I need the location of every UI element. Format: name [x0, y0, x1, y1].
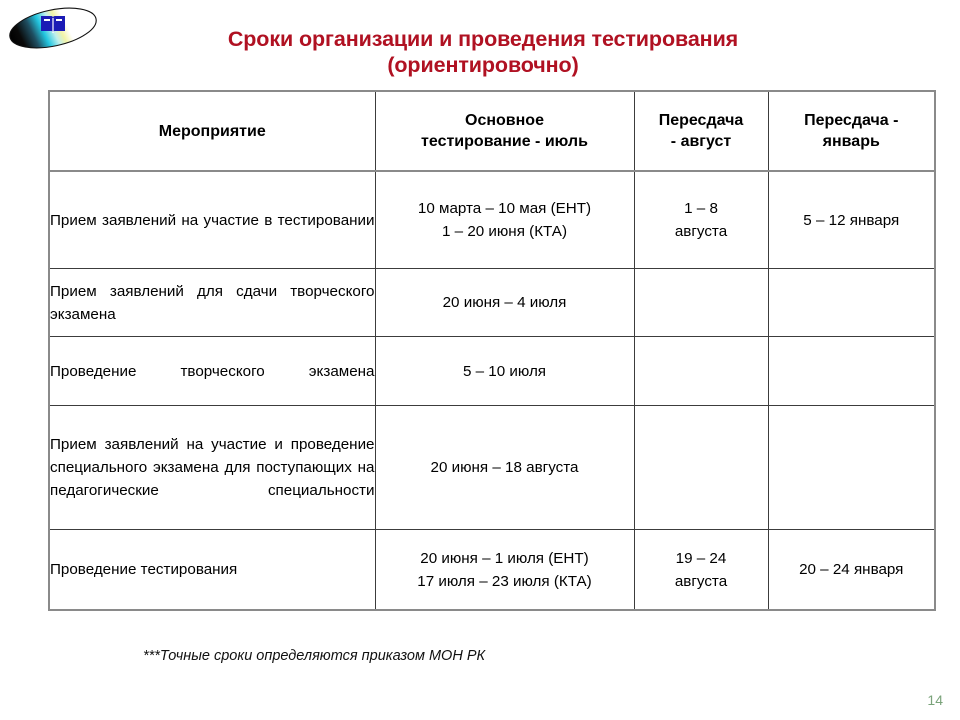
slide-page-number: 14	[927, 692, 943, 708]
column-header-retake-august-line-2: - август	[671, 133, 731, 150]
cell-retake-january: 5 – 12 января	[768, 171, 935, 269]
cell-retake-august-line-2: августа	[675, 573, 727, 590]
cell-retake-august	[634, 337, 768, 406]
cell-event: Прием заявлений на участие в тестировани…	[49, 171, 375, 269]
table-body: Прием заявлений на участие в тестировани…	[49, 171, 935, 610]
cell-main-testing: 5 – 10 июля	[375, 337, 634, 406]
cell-retake-january: 20 – 24 января	[768, 530, 935, 611]
table-row: Прием заявлений на участие и проведение …	[49, 406, 935, 530]
cell-retake-august-line-2: августа	[675, 223, 727, 240]
cell-retake-august	[634, 406, 768, 530]
cell-main-testing-line-1: 10 марта – 10 мая (ЕНТ)	[418, 200, 591, 217]
column-header-event: Мероприятие	[49, 91, 375, 171]
cell-main-testing: 20 июня – 4 июля	[375, 269, 634, 337]
cell-retake-january	[768, 406, 935, 530]
cell-retake-january	[768, 337, 935, 406]
cell-main-testing: 10 марта – 10 мая (ЕНТ) 1 – 20 июня (КТА…	[375, 171, 634, 269]
cell-retake-august: 19 – 24 августа	[634, 530, 768, 611]
cell-main-testing-line-1: 20 июня – 18 августа	[431, 459, 579, 476]
cell-main-testing-line-1: 20 июня – 4 июля	[443, 294, 567, 311]
column-header-main-testing: Основное тестирование - июль	[375, 91, 634, 171]
column-header-retake-august: Пересдача - август	[634, 91, 768, 171]
cell-retake-august-line-1: 19 – 24	[676, 550, 727, 567]
column-header-main-testing-line-2: тестирование - июль	[421, 133, 588, 150]
organization-logo	[4, 4, 102, 52]
cell-event: Прием заявлений для сдачи творческого эк…	[49, 269, 375, 337]
table-row: Проведение творческого экзамена 5 – 10 и…	[49, 337, 935, 406]
table-header: Мероприятие Основное тестирование - июль…	[49, 91, 935, 171]
testing-schedule-table: Мероприятие Основное тестирование - июль…	[48, 90, 936, 611]
cell-main-testing-line-2: 1 – 20 июня (КТА)	[442, 223, 567, 240]
cell-main-testing: 20 июня – 18 августа	[375, 406, 634, 530]
cell-retake-january-line-1: 5 – 12 января	[803, 212, 899, 229]
open-book-oval-logo-icon	[4, 4, 102, 52]
column-header-main-testing-line-1: Основное	[465, 112, 544, 129]
cell-event: Проведение творческого экзамена	[49, 337, 375, 406]
cell-event: Проведение тестирования	[49, 530, 375, 611]
column-header-retake-january-line-1: Пересдача -	[804, 112, 898, 129]
footnote: ***Точные сроки определяются приказом МО…	[143, 648, 485, 664]
column-header-event-line-1: Мероприятие	[159, 123, 266, 140]
table-row: Прием заявлений на участие в тестировани…	[49, 171, 935, 269]
page-title: Сроки организации и проведения тестирова…	[118, 26, 848, 78]
cell-retake-august-line-1: 1 – 8	[684, 200, 718, 217]
table-row: Проведение тестирования 20 июня – 1 июля…	[49, 530, 935, 611]
cell-main-testing: 20 июня – 1 июля (ЕНТ) 17 июля – 23 июля…	[375, 530, 634, 611]
table-header-row: Мероприятие Основное тестирование - июль…	[49, 91, 935, 171]
cell-main-testing-line-1: 20 июня – 1 июля (ЕНТ)	[420, 550, 589, 567]
cell-main-testing-line-1: 5 – 10 июля	[463, 363, 546, 380]
cell-retake-august	[634, 269, 768, 337]
cell-retake-august: 1 – 8 августа	[634, 171, 768, 269]
table-row: Прием заявлений для сдачи творческого эк…	[49, 269, 935, 337]
column-header-retake-january-line-2: январь	[823, 133, 880, 150]
cell-retake-january-line-1: 20 – 24 января	[799, 561, 903, 578]
column-header-retake-august-line-1: Пересдача	[659, 112, 744, 129]
column-header-retake-january: Пересдача - январь	[768, 91, 935, 171]
cell-event: Прием заявлений на участие и проведение …	[49, 406, 375, 530]
page-title-line-1: Сроки организации и проведения тестирова…	[118, 26, 848, 52]
page-title-line-2: (ориентировочно)	[118, 52, 848, 78]
cell-retake-january	[768, 269, 935, 337]
cell-main-testing-line-2: 17 июля – 23 июля (КТА)	[417, 573, 591, 590]
